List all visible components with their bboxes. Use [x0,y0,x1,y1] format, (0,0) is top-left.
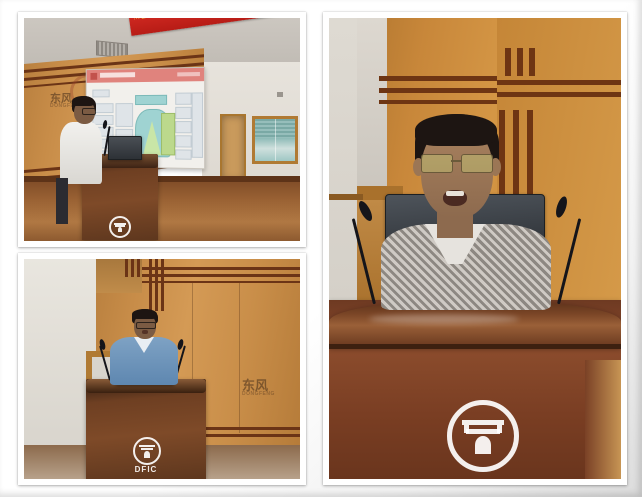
diagram-node [115,103,133,127]
wall-seam [239,283,240,433]
window-blinds [255,119,295,138]
presenter-hair [132,309,157,319]
wall-trim [329,194,363,200]
presenter-mouth [142,330,148,334]
diagram-node [175,149,191,159]
dongfeng-logo-icon [133,437,161,465]
wall-slat [529,48,535,76]
photo-collage: …区有限公司… 东风 DONGFENG [0,0,642,497]
podium-side [585,360,621,479]
slide-header [87,68,204,83]
photo-frame-top-left[interactable]: …区有限公司… 东风 DONGFENG [18,12,306,247]
wall-trim [379,88,499,93]
diagram-node-highlight [135,95,167,105]
podium: DFIC [86,379,206,479]
podium-highlight [369,314,519,324]
presenter-trousers [56,178,68,224]
wall-slat [155,259,158,311]
presenter-glasses-bridge [451,160,461,162]
laptop [108,136,142,160]
diagram-shape-green [161,113,175,156]
wall-trim [497,80,621,85]
wall-slat [149,259,152,311]
wall-slat [505,48,511,76]
photo-bottom-left: 东风 DONGFENG DFIC [24,259,300,479]
diagram-node [175,121,191,133]
podium-edge [329,344,621,349]
photo-top-left: …区有限公司… 东风 DONGFENG [24,18,300,241]
wall-panel [96,259,142,293]
wall-trim [497,92,621,97]
diagram-node [192,92,203,158]
wall-logo-en: DONGFENG [242,391,275,397]
slide-header-right [177,72,200,76]
presenter-glasses-left [421,154,453,173]
wall-slat [137,259,140,277]
podium [329,300,621,479]
dongfeng-logo-icon [109,216,131,238]
slide-title-bar [100,72,135,78]
slide-header-icon [90,73,97,80]
wall-speaker [277,92,283,97]
diagram-node [175,93,191,105]
presenter-glasses [82,108,96,115]
photo-right: Lenovo [329,18,621,479]
diagram-node [92,89,109,97]
dongfeng-logo-icon [447,400,519,472]
presenter-shirt [60,122,102,184]
presenter-hair [72,96,94,106]
presenter-glasses [136,322,156,329]
wall-trim [379,100,499,104]
presenter-teeth [446,191,464,196]
wall-slat [131,259,134,277]
wall-slat [161,259,164,311]
wall-trim [379,76,499,81]
presenter-hair [415,114,497,146]
podium-logo-text: DFIC [86,465,206,474]
photo-frame-bottom-left[interactable]: 东风 DONGFENG DFIC [18,253,306,485]
window [252,116,298,164]
diagram-node [175,135,191,147]
diagram-node [175,107,191,119]
presenter-glasses-right [461,154,493,173]
banner-text: …区有限公司… [133,18,189,21]
photo-frame-right[interactable]: Lenovo [323,12,627,485]
wall-slat [125,259,128,277]
doorway [220,114,246,182]
wall-slat [517,48,523,76]
